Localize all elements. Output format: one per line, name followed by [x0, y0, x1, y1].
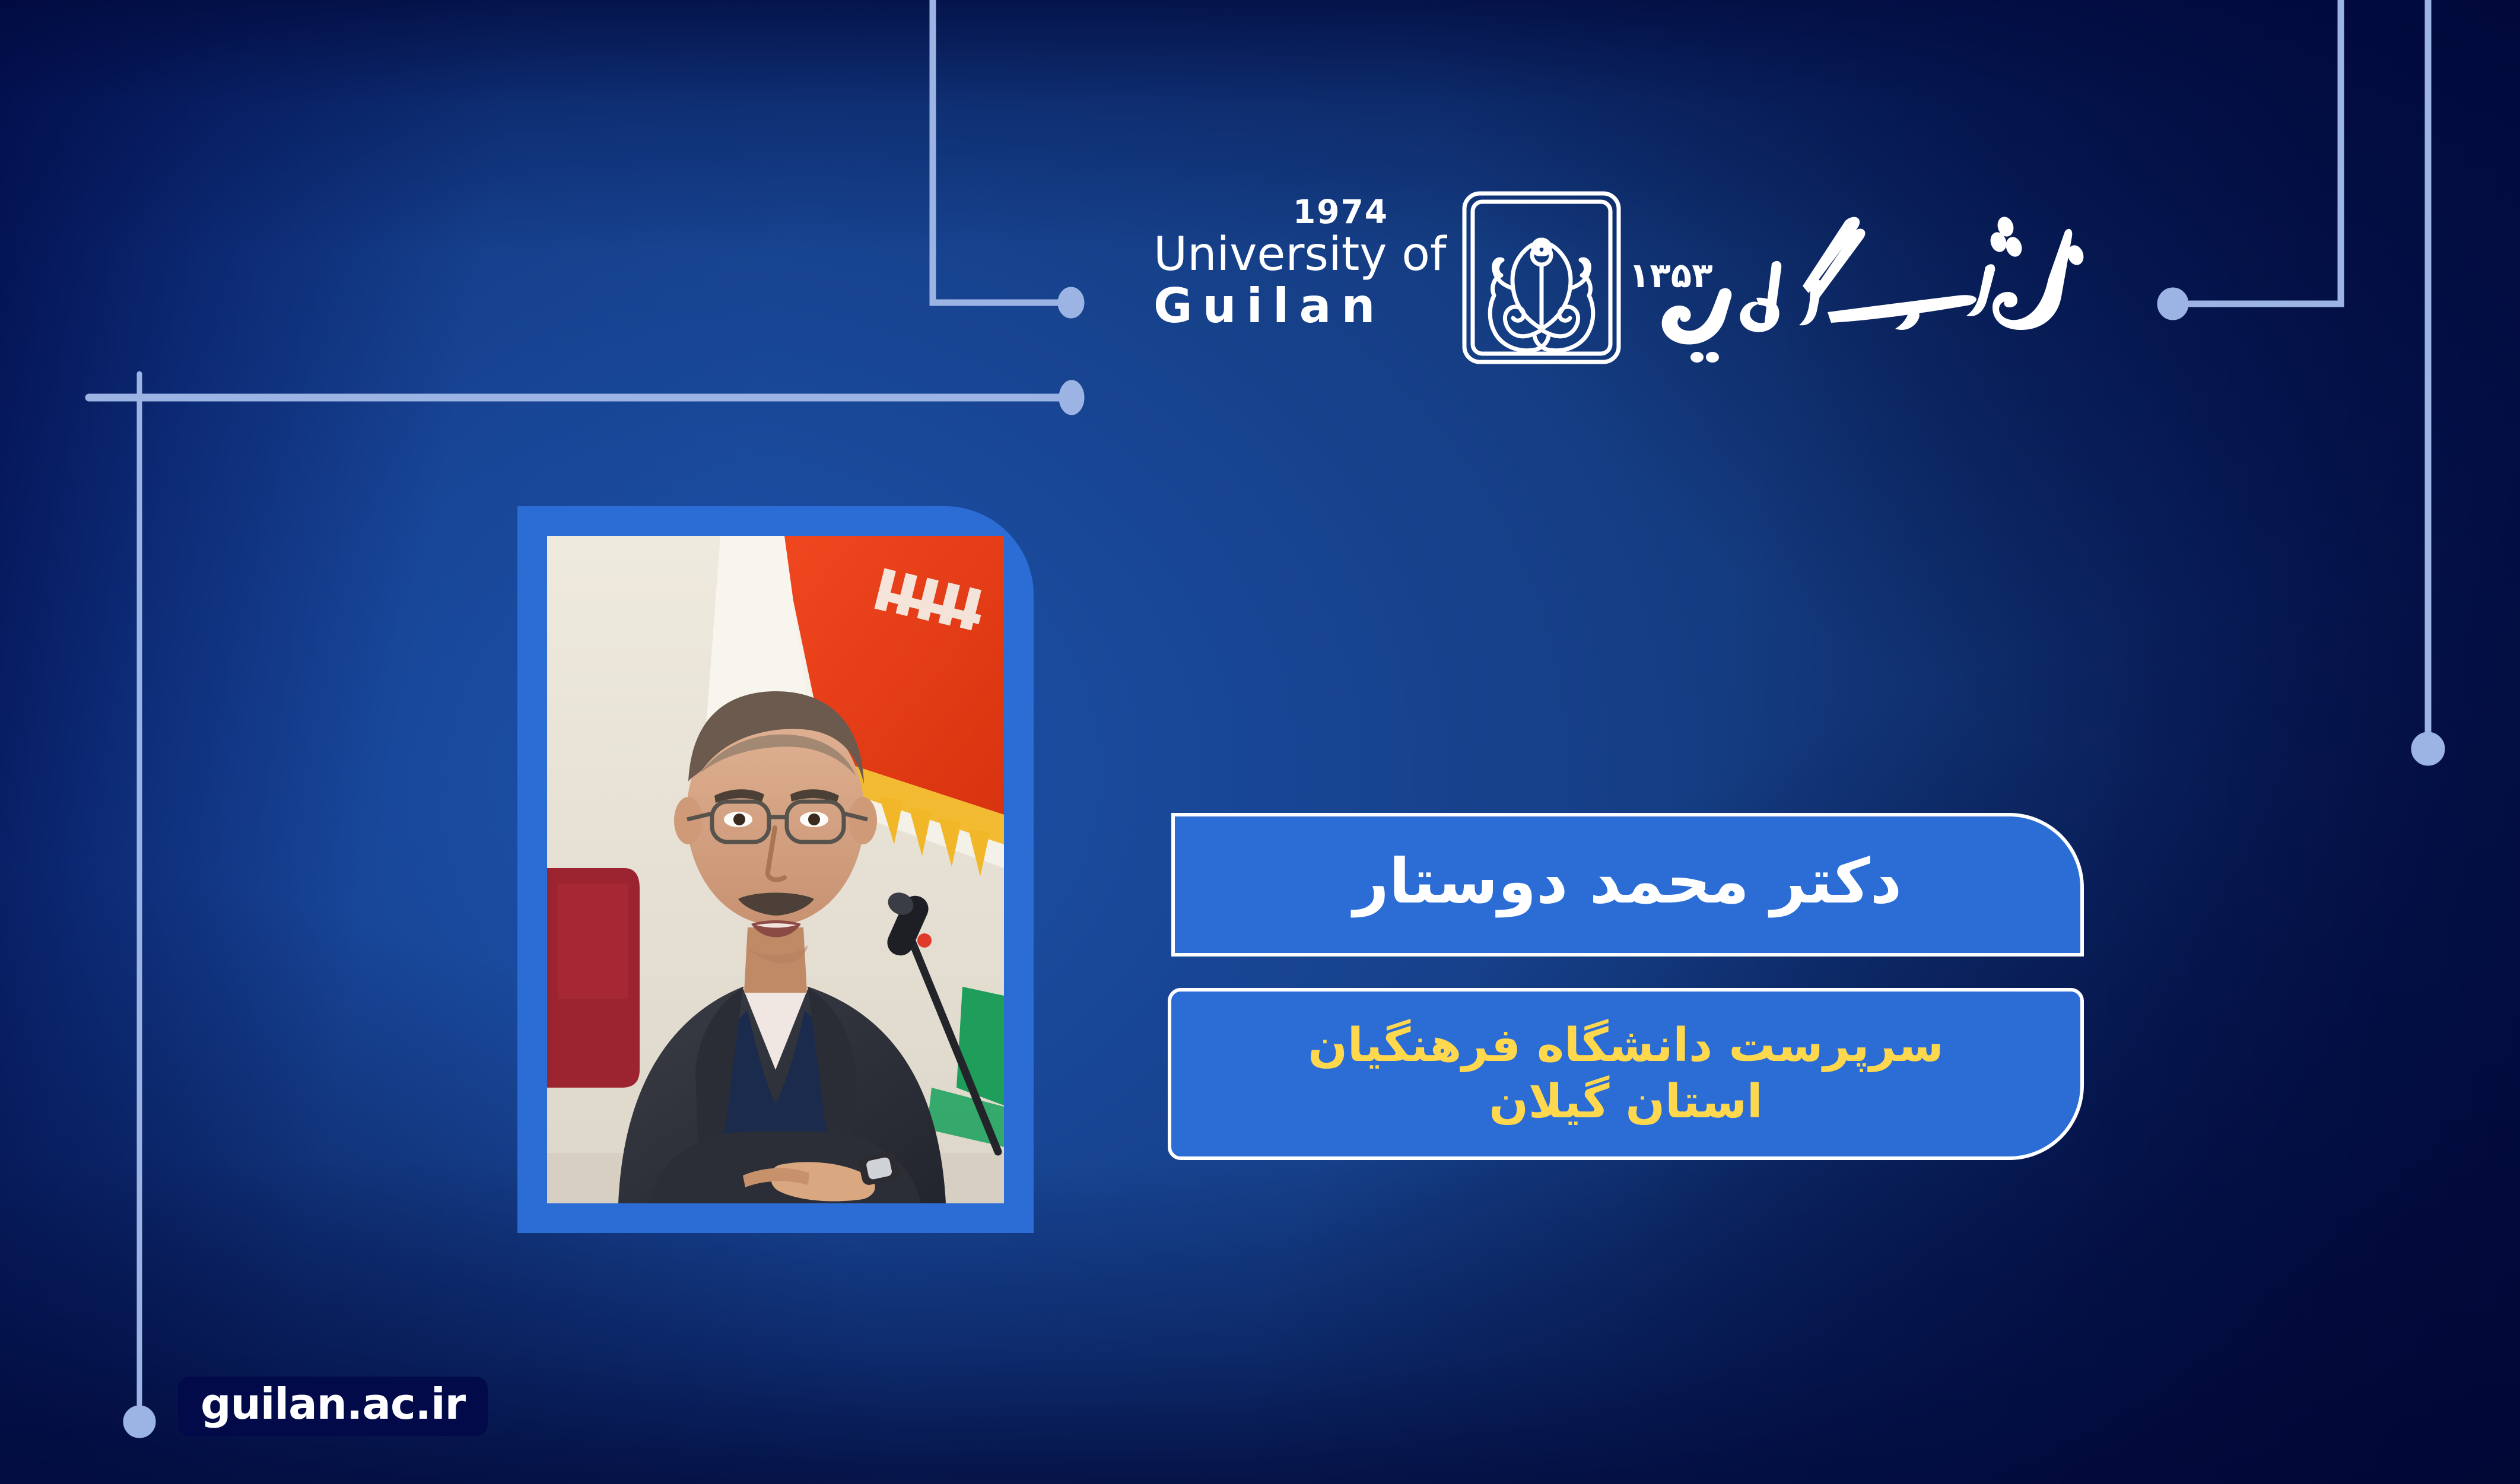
portrait-image — [547, 536, 1004, 1203]
university-logo-lockup: 1974 University of Guilan — [1151, 178, 2089, 374]
website-url-text: guilan.ac.ir — [201, 1383, 465, 1425]
logo-founding-year-en: 1974 — [1293, 196, 1462, 228]
portrait-photo — [547, 536, 1004, 1203]
person-title-line1: سرپرست دانشگاه فرهنگیان — [1308, 1018, 1943, 1074]
person-name-plaque: دکتر محمد دوستار — [1171, 813, 2084, 957]
person-title-plaque: سرپرست دانشگاه فرهنگیان استان گیلان — [1168, 988, 2084, 1160]
portrait-frame — [517, 506, 1034, 1233]
banner-canvas: 1974 University of Guilan — [0, 0, 2520, 1484]
person-name: دکتر محمد دوستار — [1353, 847, 1902, 915]
website-url-badge[interactable]: guilan.ac.ir — [178, 1377, 488, 1436]
logo-name-en-line2: Guilan — [1153, 279, 1462, 333]
person-title-line2: استان گیلان — [1489, 1074, 1762, 1130]
logo-name-en-line1: University of — [1153, 231, 1462, 279]
logo-name-fa-calligraphy: دانشگاه گیلان — [1650, 185, 2089, 363]
logo-english-text: 1974 University of Guilan — [1153, 196, 1462, 333]
guilan-university-butterfly-emblem-icon — [1458, 189, 1625, 367]
